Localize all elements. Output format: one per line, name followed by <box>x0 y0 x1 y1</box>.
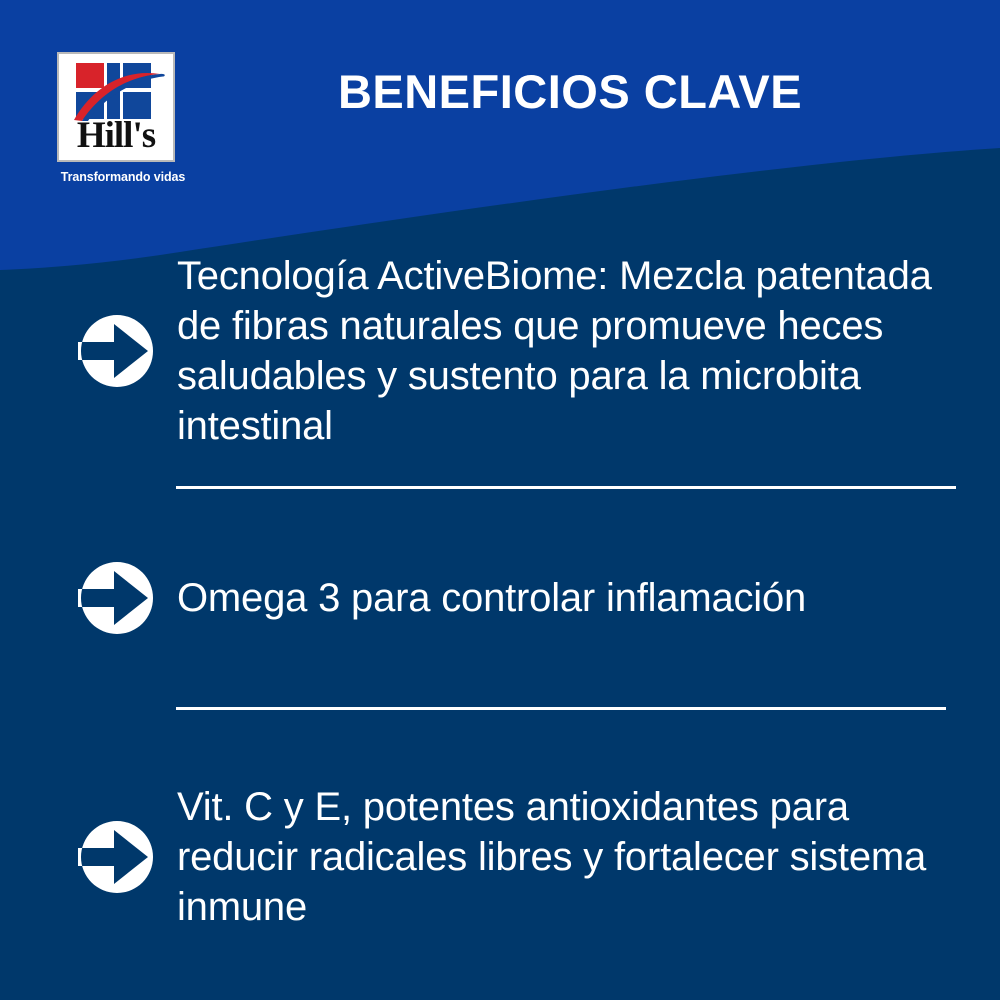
beneficios-clave-poster: Hill's Transformando vidas BENEFICIOS CL… <box>0 0 1000 1000</box>
hills-logo: Hill's <box>57 52 175 162</box>
brand-block: Hill's Transformando vidas <box>57 52 187 184</box>
benefit-item-2: Omega 3 para controlar inflamación <box>0 548 1000 648</box>
benefit-item-3: Vit. C y E, potentes antioxidantes para … <box>0 772 1000 942</box>
divider-1 <box>176 486 956 489</box>
hills-wordmark: Hill's <box>59 116 173 156</box>
benefit-text-3: Vit. C y E, potentes antioxidantes para … <box>177 782 1000 932</box>
page-title: BENEFICIOS CLAVE <box>200 64 940 119</box>
benefit-item-1: Tecnología ActiveBiome: Mezcla patentada… <box>0 216 1000 486</box>
brand-tagline: Transformando vidas <box>57 170 189 184</box>
benefit-text-1: Tecnología ActiveBiome: Mezcla patentada… <box>177 251 1000 451</box>
arrow-right-circle-icon <box>78 818 156 896</box>
benefit-text-2: Omega 3 para controlar inflamación <box>177 573 1000 623</box>
divider-2 <box>176 707 946 710</box>
hills-h-monogram-icon <box>68 60 168 122</box>
arrow-right-circle-icon <box>78 312 156 390</box>
arrow-right-circle-icon <box>78 559 156 637</box>
